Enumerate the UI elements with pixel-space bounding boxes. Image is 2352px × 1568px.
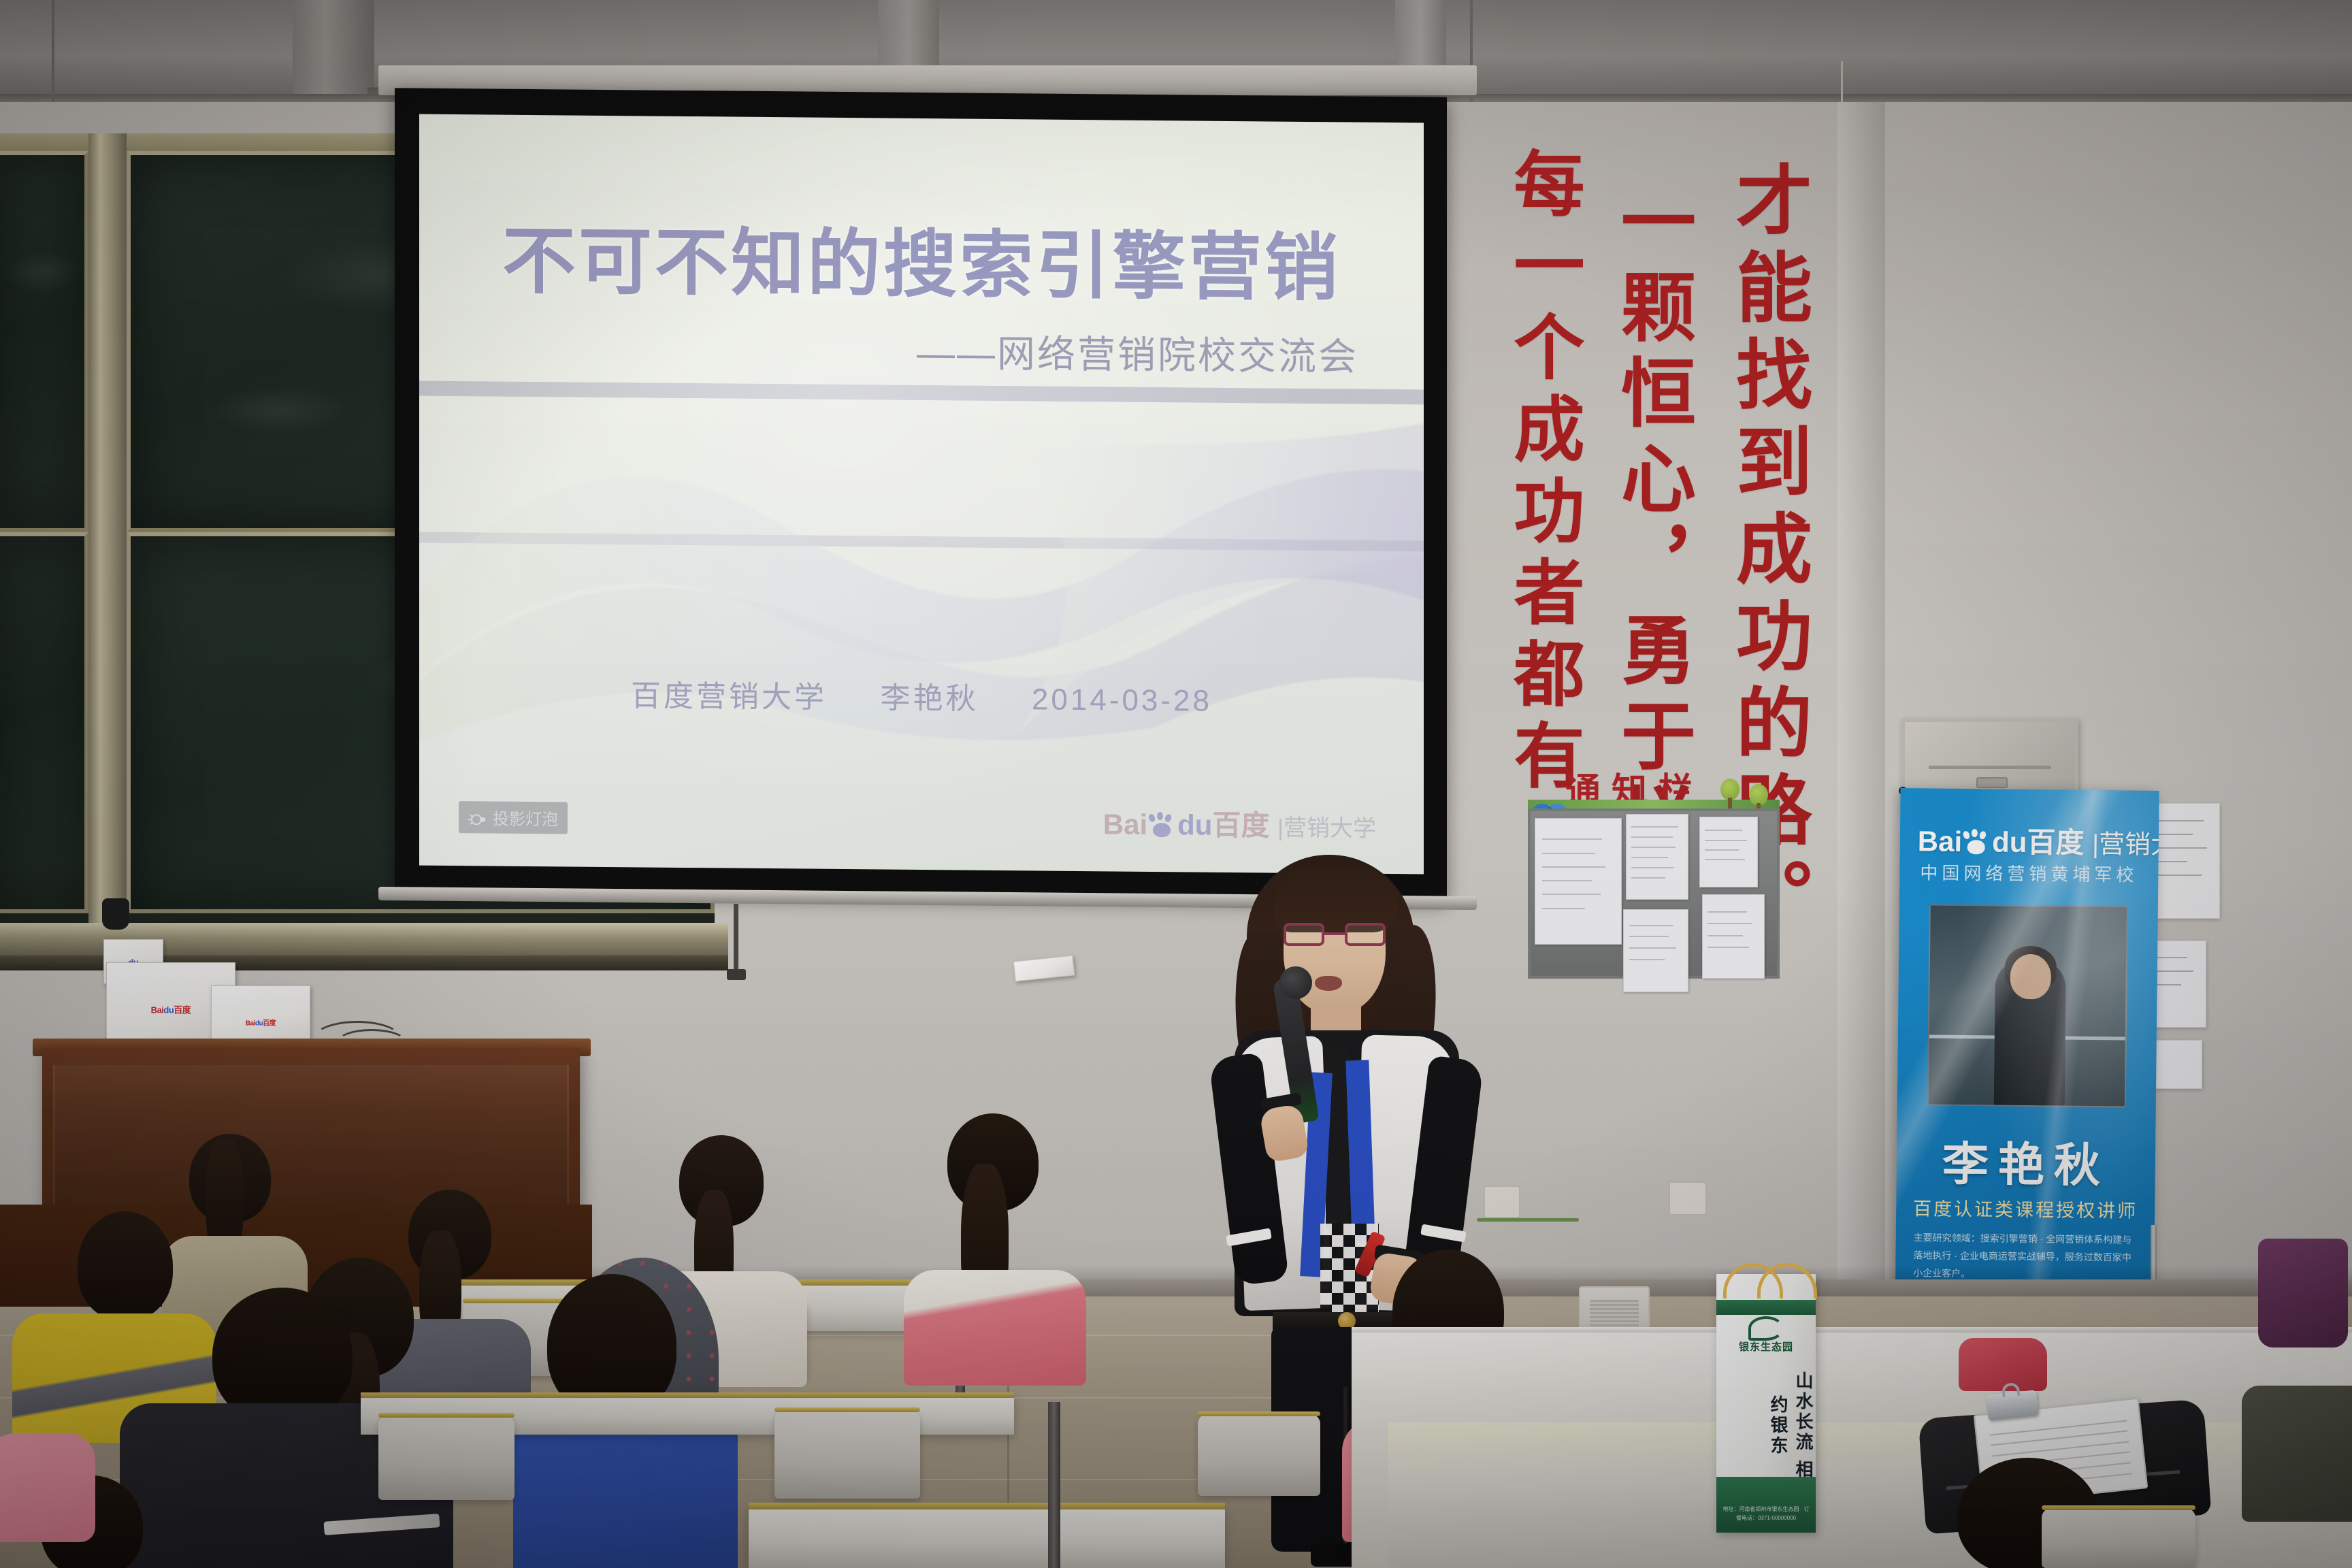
classroom-photo-scene: du Baidu百度 Baidu百度	[0, 0, 2352, 1568]
slide-footer-date: 2014-03-28	[1032, 683, 1212, 717]
chalkboard-panel-left-bottom	[0, 532, 88, 913]
notice-sheet-1[interactable]	[1535, 818, 1622, 945]
student-front-3	[0, 1433, 136, 1568]
slide-footer-org: 百度营销大学	[631, 679, 827, 715]
screen-pull-cord[interactable]	[734, 904, 738, 972]
chair-row2-2[interactable]	[774, 1410, 920, 1499]
chair-right-aisle[interactable]	[1198, 1414, 1320, 1496]
banner-tagline: 中国网络营销黄埔军校	[1920, 859, 2138, 886]
banner-speaker-photo	[1927, 904, 2128, 1107]
baidu-logo-bai: Bai	[1103, 808, 1147, 840]
baidu-logo-unit: 营销大学	[1284, 815, 1376, 842]
power-socket-right[interactable]	[1669, 1181, 1707, 1215]
baidu-logo-du: du	[1177, 808, 1212, 840]
presenter-mouth	[1315, 976, 1342, 991]
gift-bag-brand: 银东生态园	[1716, 1339, 1816, 1354]
gift-bag-slogan: 山水长流 相约银东	[1716, 1361, 1816, 1490]
baidu-paw-icon	[1147, 814, 1177, 838]
banner-logo-unit: 营销大学	[2099, 830, 2159, 860]
cabinet-handle[interactable]	[1976, 777, 2008, 788]
slide-title: 不可不知的搜索引擎营销	[419, 201, 1424, 316]
chair-trim	[2042, 1505, 2195, 1510]
chalkboard-panel-left-top	[0, 151, 88, 532]
chalkboard-divider-post	[88, 133, 127, 950]
clipboard-clip[interactable]	[1986, 1390, 2039, 1421]
baidu-paw-icon	[1962, 831, 1992, 855]
presentation-slide: 不可不知的搜索引擎营销 ——网络营销院校交流会 百度营销大学 李艳秋 2014-…	[419, 114, 1424, 875]
gift-bag[interactable]: 银东生态园 山水长流 相约银东 地址：河南省郑州市银东生态园 · 订餐电话：03…	[1716, 1274, 1816, 1533]
lamp-icon	[468, 812, 486, 826]
pink-hood	[0, 1433, 95, 1542]
slide-subtitle: ——网络营销院校交流会	[917, 323, 1358, 382]
tree-icon-1	[1720, 779, 1739, 810]
baidu-mini-logo: Baidu百度	[151, 1002, 191, 1015]
pink-item-on-desk	[1959, 1338, 2047, 1391]
chair-trim	[1198, 1411, 1320, 1416]
baidu-mini-logo: Baidu百度	[246, 1017, 276, 1028]
baidu-logo-cn: 百度	[1212, 809, 1269, 842]
student-desk-row1	[749, 1505, 1225, 1568]
calligraphy-column-left: 每一个成功者都有	[1490, 147, 1593, 800]
olive-jacket-on-chair	[2242, 1386, 2352, 1522]
desk-edge	[361, 1392, 1014, 1398]
projector-osd-text: 投影灯泡	[493, 811, 558, 830]
slide-footer-speaker: 李艳秋	[880, 681, 978, 715]
notice-sheet-4[interactable]	[1702, 894, 1765, 979]
chair-trim	[378, 1413, 514, 1418]
cable-coil-2	[336, 1029, 407, 1056]
slide-footer: 百度营销大学 李艳秋 2014-03-28	[419, 670, 1424, 722]
ceiling-beam-left	[293, 0, 374, 102]
projection-screen: 不可不知的搜索引擎营销 ——网络营销院校交流会 百度营销大学 李艳秋 2014-…	[395, 88, 1447, 900]
baidu-logo-divider: |	[1277, 815, 1284, 841]
projector-osd-badge: 投影灯泡	[459, 801, 568, 834]
banner-speaker-role: 百度认证类课程授权讲师	[1896, 1194, 2155, 1223]
chair-front-right[interactable]	[2042, 1508, 2195, 1568]
banner-logo-du: du	[1992, 826, 2027, 858]
chalkboard-slide-knob[interactable]	[102, 898, 129, 930]
student-back-5	[912, 1113, 1082, 1365]
screen-pull-handle[interactable]	[727, 969, 746, 980]
banner-logo-cn: 百度	[2027, 826, 2085, 859]
purple-bag	[2258, 1239, 2348, 1347]
baidu-logo-slide: Baidu百度 |营销大学	[1103, 801, 1376, 845]
notice-sheet-5[interactable]	[1623, 909, 1688, 992]
eco-leaf-icon	[1748, 1316, 1784, 1341]
banner-baidu-logo: Baidu百度 |营销大学	[1918, 818, 2147, 862]
notice-board	[1528, 808, 1780, 979]
gift-bag-fine-print: 地址：河南省郑州市银东生态园 · 订餐电话：0371-00000000	[1722, 1505, 1810, 1523]
desk-leg	[1048, 1402, 1060, 1568]
chair-trim	[774, 1407, 920, 1412]
notice-sheet-2[interactable]	[1626, 814, 1688, 900]
eyeglasses-icon	[1284, 923, 1386, 946]
banner-speaker-name: 李艳秋	[1896, 1126, 2155, 1196]
banner-logo-bai: Bai	[1918, 825, 1963, 857]
desk-edge	[749, 1503, 1225, 1509]
notice-sheet-3[interactable]	[1699, 817, 1758, 887]
wall-pilaster	[1837, 102, 1885, 1307]
chair-row2-1[interactable]	[378, 1416, 514, 1500]
